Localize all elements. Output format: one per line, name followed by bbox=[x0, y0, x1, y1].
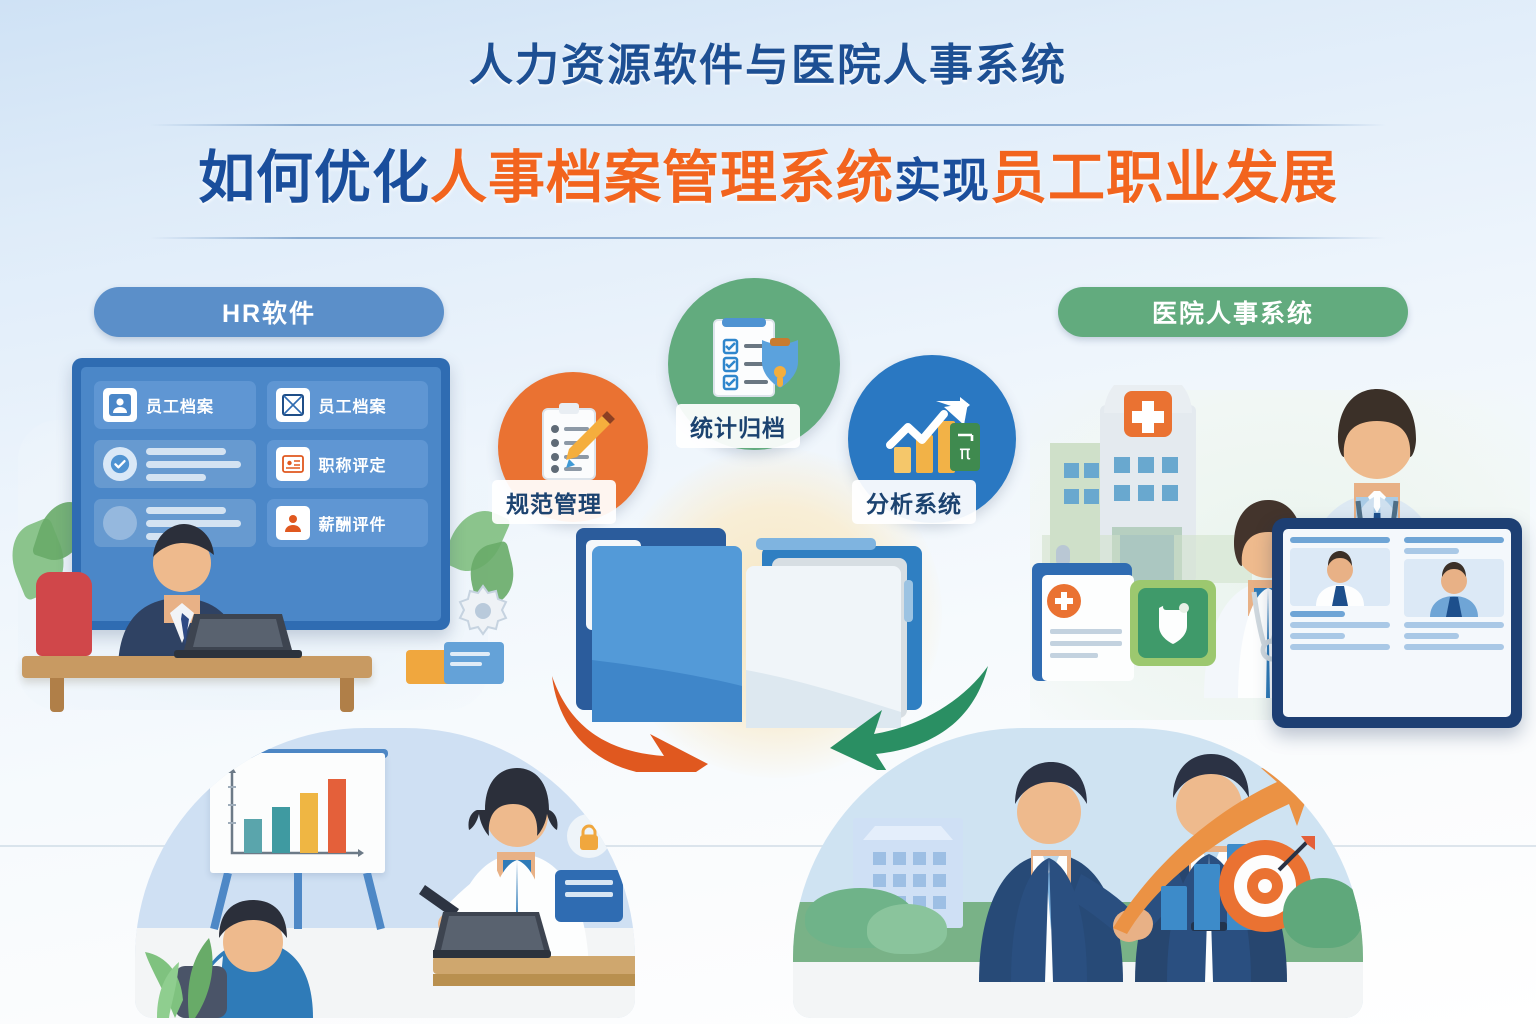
grid-data-icon bbox=[276, 388, 310, 422]
file-folder-icon bbox=[404, 636, 514, 688]
gear-icon bbox=[452, 580, 514, 642]
hr-screen-row-top: 员工档案 员工档案 bbox=[94, 381, 428, 429]
presentation-board bbox=[210, 753, 385, 873]
laptop-icon bbox=[172, 612, 304, 662]
tablet-column-left bbox=[1283, 529, 1397, 717]
badge-label-standardized-management: 规范管理 bbox=[492, 480, 616, 524]
page-subtitle: 如何优化人事档案管理系统实现员工职业发展 bbox=[0, 145, 1536, 212]
hr-card-employee-records[interactable]: 员工档案 bbox=[267, 381, 429, 429]
career-growth-panel bbox=[793, 728, 1363, 1018]
desk-leg bbox=[340, 678, 354, 712]
hr-card-label: 职称评定 bbox=[319, 452, 387, 476]
hr-card-label: 员工档案 bbox=[319, 393, 387, 417]
tablet-column-right bbox=[1397, 529, 1511, 717]
plant-illustration bbox=[145, 908, 285, 1018]
growth-chart-icon: π bbox=[876, 383, 988, 495]
security-lock-icon bbox=[549, 808, 629, 948]
badge-label-statistics-archive: 统计归档 bbox=[676, 404, 800, 448]
bar-chart-icon bbox=[210, 753, 385, 873]
staff-avatar-icon bbox=[1404, 559, 1504, 617]
hr-card-payroll[interactable]: 薪酬评件 bbox=[267, 499, 429, 547]
hr-card-verified-item[interactable] bbox=[94, 440, 256, 488]
page-title: 人力资源软件与医院人事系统 bbox=[0, 42, 1536, 90]
subtitle-part-3: 实现 bbox=[894, 154, 990, 207]
training-presentation-panel bbox=[135, 728, 635, 1018]
user-profile-icon bbox=[103, 388, 137, 422]
hr-card-title-evaluation[interactable]: 职称评定 bbox=[267, 440, 429, 488]
svg-text:π: π bbox=[959, 442, 970, 464]
hr-card-placeholder-lines bbox=[146, 448, 247, 481]
medical-id-card-icon bbox=[1030, 545, 1138, 685]
hr-card-label: 员工档案 bbox=[146, 393, 214, 417]
section-pill-hr-software[interactable]: HR软件 bbox=[94, 287, 444, 337]
hr-card-label: 薪酬评件 bbox=[319, 511, 387, 535]
badge-label-analysis-system: 分析系统 bbox=[852, 480, 976, 524]
header-divider-top bbox=[150, 124, 1386, 126]
staff-profile-tablet[interactable] bbox=[1272, 518, 1522, 728]
staff-avatar-icon bbox=[1290, 548, 1390, 606]
checkmark-icon bbox=[103, 447, 137, 481]
infographic-canvas: 人力资源软件与医院人事系统 如何优化人事档案管理系统实现员工职业发展 HR软件 … bbox=[0, 0, 1536, 1024]
green-shield-icon bbox=[1130, 580, 1216, 666]
desk-leg bbox=[50, 678, 64, 712]
subtitle-part-1: 如何优化 bbox=[198, 146, 430, 210]
person-orange-icon bbox=[276, 506, 310, 540]
subtitle-part-2: 人事档案管理系统 bbox=[430, 146, 894, 210]
page-title-wrap: 人力资源软件与医院人事系统 bbox=[0, 42, 1536, 90]
hr-card-employee-profile[interactable]: 员工档案 bbox=[94, 381, 256, 429]
bush-decoration bbox=[1283, 878, 1363, 948]
section-pill-hospital-hr[interactable]: 医院人事系统 bbox=[1058, 287, 1408, 337]
tablet-screen bbox=[1283, 529, 1511, 717]
hr-screen-row-mid: 职称评定 bbox=[94, 440, 428, 488]
subtitle-part-4: 员工职业发展 bbox=[990, 146, 1338, 210]
id-card-icon bbox=[276, 447, 310, 481]
header-divider-bottom bbox=[150, 237, 1386, 239]
bush-decoration bbox=[867, 904, 947, 954]
office-chair bbox=[36, 572, 92, 656]
